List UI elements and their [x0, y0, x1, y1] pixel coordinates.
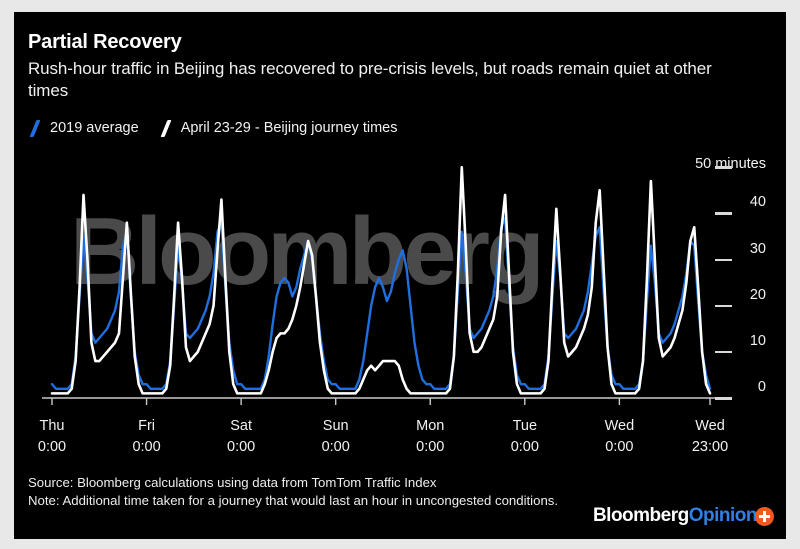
x-tick-time: 0:00	[132, 437, 160, 458]
logo-bloomberg-text: Bloomberg	[593, 505, 689, 527]
y-tick-label: 30	[738, 241, 766, 257]
x-tick-day: Sun	[322, 416, 350, 437]
y-tick-dash	[715, 212, 732, 215]
x-tick-label: Wed23:00	[692, 416, 728, 458]
x-tick-day: Thu	[38, 416, 66, 437]
x-tick-time: 0:00	[322, 437, 350, 458]
y-tick-dash	[715, 397, 732, 400]
x-tick-label: Wed0:00	[605, 416, 635, 458]
y-tick-dash	[715, 351, 732, 354]
x-tick-day: Tue	[511, 416, 539, 437]
x-tick-label: Thu0:00	[38, 416, 66, 458]
legend-swatch-white-icon	[159, 121, 174, 136]
x-tick-time: 0:00	[605, 437, 635, 458]
y-tick-dash	[715, 166, 732, 169]
x-tick-day: Fri	[132, 416, 160, 437]
screenshot-root: Partial Recovery Rush-hour traffic in Be…	[0, 0, 800, 549]
x-tick-time: 0:00	[416, 437, 444, 458]
y-tick-label: 10	[738, 333, 766, 349]
logo-opinion-text: Opinion	[689, 505, 757, 527]
x-tick-time: 0:00	[38, 437, 66, 458]
x-axis-labels: Thu0:00Fri0:00Sat0:00Sun0:00Mon0:00Tue0:…	[28, 416, 772, 464]
y-tick-label: 40	[738, 194, 766, 210]
x-tick-day: Wed	[605, 416, 635, 437]
page-subtitle: Rush-hour traffic in Beijing has recover…	[28, 58, 743, 103]
x-tick-label: Sun0:00	[322, 416, 350, 458]
source-note: Source: Bloomberg calculations using dat…	[28, 474, 628, 492]
chart-card: Partial Recovery Rush-hour traffic in Be…	[14, 12, 786, 539]
y-tick-label: 20	[738, 287, 766, 303]
x-tick-time: 0:00	[227, 437, 255, 458]
plus-badge-icon	[755, 507, 774, 526]
x-tick-day: Sat	[227, 416, 255, 437]
y-tick-dash	[715, 305, 732, 308]
x-tick-time: 23:00	[692, 437, 728, 458]
chart-legend: 2019 average April 23-29 - Beijing journ…	[28, 120, 397, 136]
chart-footnotes: Source: Bloomberg calculations using dat…	[28, 474, 628, 510]
x-tick-day: Wed	[692, 416, 728, 437]
plot-area: Bloomberg 50 minutes 010203040	[28, 152, 772, 408]
traffic-line-chart	[28, 152, 772, 408]
x-tick-label: Tue0:00	[511, 416, 539, 458]
method-note: Note: Additional time taken for a journe…	[28, 492, 628, 510]
x-tick-day: Mon	[416, 416, 444, 437]
legend-item-april[interactable]: April 23-29 - Beijing journey times	[159, 120, 398, 136]
bloomberg-opinion-logo: BloombergOpinion	[593, 505, 774, 527]
legend-item-2019[interactable]: 2019 average	[28, 120, 139, 136]
y-tick-label: 0	[738, 379, 766, 395]
legend-swatch-blue-icon	[28, 121, 43, 136]
legend-label-2019: 2019 average	[50, 120, 139, 136]
x-tick-label: Mon0:00	[416, 416, 444, 458]
x-tick-label: Sat0:00	[227, 416, 255, 458]
y-tick-dash	[715, 259, 732, 262]
x-tick-label: Fri0:00	[132, 416, 160, 458]
x-tick-time: 0:00	[511, 437, 539, 458]
page-title: Partial Recovery	[28, 31, 182, 54]
legend-label-april: April 23-29 - Beijing journey times	[181, 120, 398, 136]
